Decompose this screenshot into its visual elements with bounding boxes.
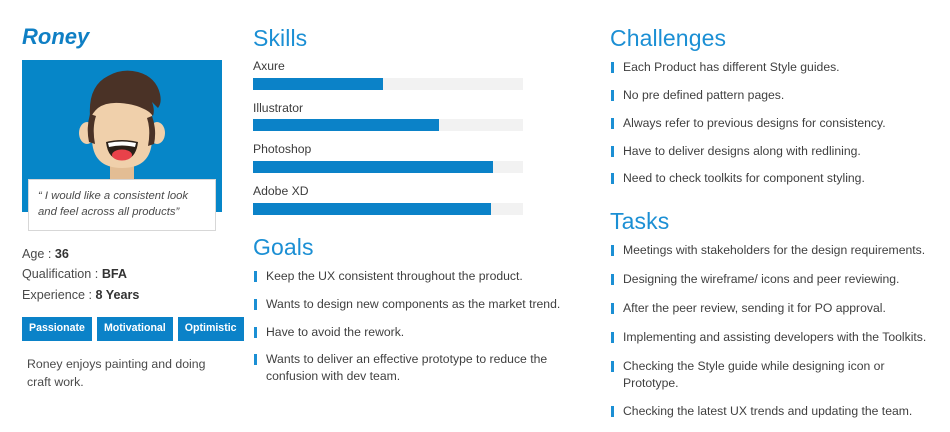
list-item: Meetings with stakeholders for the desig… bbox=[610, 242, 940, 259]
profile-details: Age : 36 Qualification : BFA Experience … bbox=[22, 244, 234, 305]
list-item: Wants to design new components as the ma… bbox=[253, 296, 563, 313]
skill-fill-photoshop bbox=[253, 161, 493, 173]
page-title: Roney bbox=[22, 26, 234, 48]
challenges-list: Each Product has different Style guides.… bbox=[610, 59, 940, 187]
detail-label-experience: Experience : bbox=[22, 288, 92, 302]
bullet-icon bbox=[611, 62, 614, 73]
list-item: After the peer review, sending it for PO… bbox=[610, 300, 940, 317]
skill-track-axure bbox=[253, 78, 523, 90]
skill-label-photoshop: Photoshop bbox=[253, 142, 563, 157]
bullet-icon bbox=[611, 332, 614, 343]
list-item: Always refer to previous designs for con… bbox=[610, 115, 940, 132]
bullet-icon bbox=[254, 271, 257, 282]
detail-value-experience: 8 Years bbox=[96, 288, 140, 302]
bullet-icon bbox=[611, 146, 614, 157]
list-item: Each Product has different Style guides. bbox=[610, 59, 940, 76]
detail-value-qualification: BFA bbox=[102, 267, 127, 281]
skill-track-illustrator bbox=[253, 119, 523, 131]
bullet-icon bbox=[254, 327, 257, 338]
task-text: After the peer review, sending it for PO… bbox=[623, 301, 886, 315]
list-item: Designing the wireframe/ icons and peer … bbox=[610, 271, 940, 288]
skill-label-adobexd: Adobe XD bbox=[253, 184, 563, 199]
skill-row: Axure bbox=[253, 59, 563, 90]
bullet-icon bbox=[611, 173, 614, 184]
skill-row: Photoshop bbox=[253, 142, 563, 173]
challenge-text: Each Product has different Style guides. bbox=[623, 60, 840, 74]
challenge-text: Have to deliver designs along with redli… bbox=[623, 144, 861, 158]
challenges-tasks-column: Challenges Each Product has different St… bbox=[610, 26, 940, 432]
detail-row-qualification: Qualification : BFA bbox=[22, 264, 234, 284]
task-text: Meetings with stakeholders for the desig… bbox=[623, 243, 925, 257]
goal-text: Have to avoid the rework. bbox=[266, 325, 404, 339]
bullet-icon bbox=[611, 90, 614, 101]
task-text: Checking the Style guide while designing… bbox=[623, 359, 885, 390]
tasks-title: Tasks bbox=[610, 209, 940, 233]
goal-text: Wants to design new components as the ma… bbox=[266, 297, 560, 311]
skills-section: Skills Axure Illustrator Photoshop bbox=[253, 26, 563, 215]
skill-fill-illustrator bbox=[253, 119, 439, 131]
list-item: Checking the latest UX trends and updati… bbox=[610, 403, 940, 420]
list-item: Keep the UX consistent throughout the pr… bbox=[253, 268, 563, 285]
tasks-section: Tasks Meetings with stakeholders for the… bbox=[610, 209, 940, 420]
bullet-icon bbox=[611, 274, 614, 285]
detail-row-age: Age : 36 bbox=[22, 244, 234, 264]
list-item: No pre defined pattern pages. bbox=[610, 87, 940, 104]
goals-list: Keep the UX consistent throughout the pr… bbox=[253, 268, 563, 385]
challenges-title: Challenges bbox=[610, 26, 940, 50]
bullet-icon bbox=[611, 361, 614, 372]
challenge-text: Always refer to previous designs for con… bbox=[623, 116, 886, 130]
task-text: Checking the latest UX trends and updati… bbox=[623, 404, 912, 418]
detail-label-age: Age : bbox=[22, 247, 51, 261]
trait-tag-list: Passionate Motivational Optimistic bbox=[22, 317, 234, 341]
skill-track-photoshop bbox=[253, 161, 523, 173]
goal-text: Wants to deliver an effective prototype … bbox=[266, 352, 547, 383]
skill-row: Illustrator bbox=[253, 101, 563, 132]
list-item: Have to avoid the rework. bbox=[253, 324, 563, 341]
hobby-text: Roney enjoys painting and doing craft wo… bbox=[27, 355, 222, 392]
challenge-text: No pre defined pattern pages. bbox=[623, 88, 784, 102]
bullet-icon bbox=[611, 245, 614, 256]
skill-fill-adobexd bbox=[253, 203, 491, 215]
goals-title: Goals bbox=[253, 235, 563, 259]
skills-goals-column: Skills Axure Illustrator Photoshop bbox=[253, 26, 563, 396]
quote-box: “ I would like a consistent look and fee… bbox=[28, 179, 216, 231]
skill-fill-axure bbox=[253, 78, 383, 90]
list-item: Checking the Style guide while designing… bbox=[610, 358, 940, 392]
detail-value-age: 36 bbox=[55, 247, 69, 261]
skill-track-adobexd bbox=[253, 203, 523, 215]
task-text: Implementing and assisting developers wi… bbox=[623, 330, 926, 344]
task-text: Designing the wireframe/ icons and peer … bbox=[623, 272, 899, 286]
bullet-icon bbox=[611, 406, 614, 417]
list-item: Wants to deliver an effective prototype … bbox=[253, 351, 563, 385]
skill-label-illustrator: Illustrator bbox=[253, 101, 563, 116]
tasks-list: Meetings with stakeholders for the desig… bbox=[610, 242, 940, 420]
trait-tag-motivational: Motivational bbox=[97, 317, 173, 341]
list-item: Implementing and assisting developers wi… bbox=[610, 329, 940, 346]
bullet-icon bbox=[254, 354, 257, 365]
bullet-icon bbox=[611, 118, 614, 129]
detail-label-qualification: Qualification : bbox=[22, 267, 98, 281]
trait-tag-passionate: Passionate bbox=[22, 317, 92, 341]
persona-page: Roney bbox=[0, 0, 950, 409]
challenge-text: Need to check toolkits for component sty… bbox=[623, 171, 865, 185]
bullet-icon bbox=[254, 299, 257, 310]
detail-row-experience: Experience : 8 Years bbox=[22, 285, 234, 305]
skills-title: Skills bbox=[253, 26, 563, 50]
profile-column: Roney bbox=[22, 26, 234, 391]
trait-tag-optimistic: Optimistic bbox=[178, 317, 244, 341]
list-item: Need to check toolkits for component sty… bbox=[610, 170, 940, 187]
list-item: Have to deliver designs along with redli… bbox=[610, 143, 940, 160]
goals-section: Goals Keep the UX consistent throughout … bbox=[253, 235, 563, 385]
skill-row: Adobe XD bbox=[253, 184, 563, 215]
challenges-section: Challenges Each Product has different St… bbox=[610, 26, 940, 187]
goal-text: Keep the UX consistent throughout the pr… bbox=[266, 269, 523, 283]
bullet-icon bbox=[611, 303, 614, 314]
skill-label-axure: Axure bbox=[253, 59, 563, 74]
